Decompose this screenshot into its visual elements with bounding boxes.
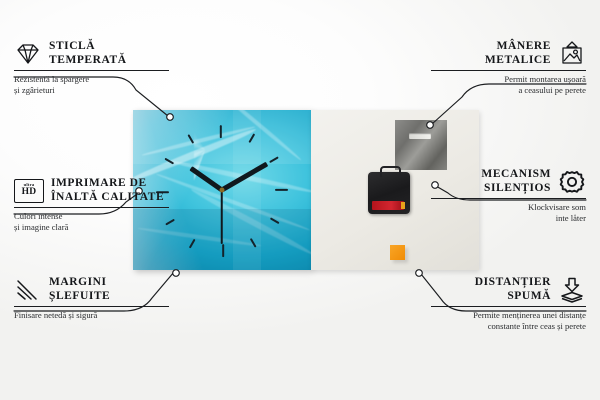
leader-endpoint <box>173 270 180 277</box>
infographic-canvas: STICLĂ TEMPERATĂ Rezistentă la spargere … <box>0 0 600 400</box>
hanging-frame-icon <box>558 41 586 67</box>
callout-title-line1: MARGINI <box>49 276 110 290</box>
callout-sub-line2: și zgârieturi <box>14 85 169 96</box>
callout-title-line1: MECANISM <box>481 168 551 182</box>
callout-title-line2: TEMPERATĂ <box>49 54 127 68</box>
metal-hanger <box>395 120 447 170</box>
callout-rule <box>431 198 586 199</box>
callout-title-line2: ÎNALTĂ CALITATE <box>51 191 164 205</box>
diamond-icon <box>14 42 42 66</box>
callout-silent-mechanism: MECANISM SILENȚIOS Klockvisare som inte … <box>431 168 586 223</box>
callout-rule <box>431 70 586 71</box>
callout-header: MARGINI ȘLEFUITE <box>14 276 169 303</box>
hour-mark <box>275 189 288 191</box>
movement-loop <box>380 166 401 177</box>
callout-sub-line1: Klockvisare som <box>431 202 586 213</box>
glass-sheen <box>133 110 311 164</box>
callout-print-quality: ultra HD IMPRIMARE DE ÎNALTĂ CALITATE Cu… <box>14 177 169 232</box>
callout-metal-handles: MÂNERE METALICE Permit montarea ușoară a… <box>431 40 586 95</box>
callout-rule <box>14 306 169 307</box>
callout-sub-line2: a ceasului pe perete <box>431 85 586 96</box>
callout-title-line1: STICLĂ <box>49 40 127 54</box>
glass-seam <box>233 110 261 270</box>
callout-foam-spacer: DISTANȚIER SPUMĂ Permite menținerea unei… <box>431 276 586 331</box>
callout-sub-line1: Permite menținerea unei distanțe <box>431 310 586 321</box>
hour-mark <box>220 125 222 138</box>
hanger-slot <box>409 133 431 139</box>
callout-title-line1: DISTANȚIER <box>475 276 551 290</box>
callout-title-line2: SILENȚIOS <box>481 182 551 196</box>
gear-icon <box>558 169 586 195</box>
callout-header: MÂNERE METALICE <box>431 40 586 67</box>
callout-sub-line1: Finisare netedă și sigură <box>14 310 169 321</box>
ultra-hd-icon: ultra HD <box>14 179 44 203</box>
callout-rule <box>14 70 169 71</box>
callout-sub-line1: Rezistentă la spargere <box>14 74 169 85</box>
callout-polished-edges: MARGINI ȘLEFUITE Finisare netedă și sigu… <box>14 276 169 321</box>
callout-title-line2: METALICE <box>485 54 551 68</box>
ultra-hd-large-text: HD <box>22 188 37 198</box>
callout-sub-line2: inte låter <box>431 213 586 224</box>
callout-sub-line1: Permit montarea ușoară <box>431 74 586 85</box>
callout-header: STICLĂ TEMPERATĂ <box>14 40 169 67</box>
callout-title-line2: SPUMĂ <box>475 290 551 304</box>
callout-rule <box>431 306 586 307</box>
leader-endpoint <box>416 270 423 277</box>
hour-mark <box>222 244 224 257</box>
foam-spacer-pad <box>390 245 405 260</box>
callout-title-line1: IMPRIMARE DE <box>51 177 164 191</box>
callout-sub-line1: Culori intense <box>14 211 169 222</box>
callout-title-line2: ȘLEFUITE <box>49 290 110 304</box>
callout-tempered-glass: STICLĂ TEMPERATĂ Rezistentă la spargere … <box>14 40 169 95</box>
center-pin <box>220 188 225 193</box>
second-hand <box>221 190 223 244</box>
quartz-movement <box>368 172 410 214</box>
callout-header: ultra HD IMPRIMARE DE ÎNALTĂ CALITATE <box>14 177 169 204</box>
callout-title-line1: MÂNERE <box>485 40 551 54</box>
callout-sub-line2: constante între ceas și perete <box>431 321 586 332</box>
battery-terminal <box>401 202 405 209</box>
arrow-onto-pad-icon <box>558 277 586 303</box>
callout-header: MECANISM SILENȚIOS <box>431 168 586 195</box>
diagonal-lines-icon <box>14 278 42 302</box>
battery <box>372 201 404 210</box>
callout-rule <box>14 207 169 208</box>
callout-header: DISTANȚIER SPUMĂ <box>431 276 586 303</box>
callout-sub-line2: și imagine clară <box>14 222 169 233</box>
